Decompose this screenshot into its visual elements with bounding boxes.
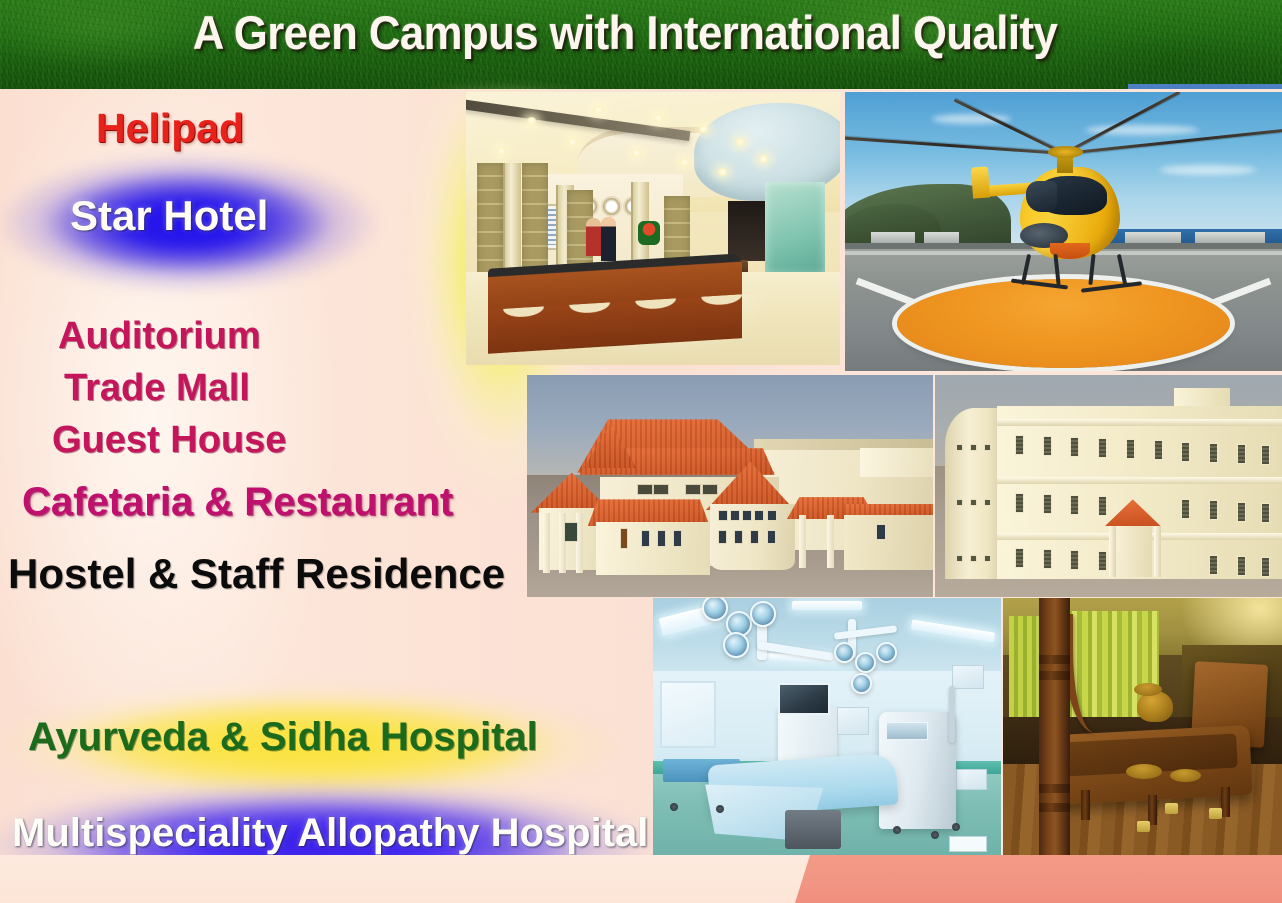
window <box>876 524 886 540</box>
facility-label-helipad: Helipad <box>96 108 244 149</box>
porch-column <box>1109 526 1116 577</box>
tower-window <box>956 555 963 562</box>
distant-building <box>924 232 959 243</box>
person-figure <box>586 218 601 256</box>
lobby-green-glass-wall <box>765 182 825 275</box>
table-leg <box>1148 795 1157 825</box>
tower-window <box>956 499 963 506</box>
distant-building <box>871 232 915 243</box>
photo-helipad <box>845 92 1282 371</box>
window <box>1181 499 1190 519</box>
machine-display <box>886 722 928 740</box>
surgical-lamp <box>834 642 855 663</box>
wall-panel <box>952 665 983 688</box>
window <box>660 681 716 748</box>
downlight-icon <box>698 125 709 133</box>
table-leg <box>1081 790 1090 820</box>
window <box>702 484 718 495</box>
window <box>754 510 764 521</box>
window <box>1209 500 1218 520</box>
photo-heritage-building <box>527 375 933 597</box>
distant-building <box>1125 232 1182 243</box>
tower-window <box>970 499 977 506</box>
brass-foot-cap <box>1165 803 1178 814</box>
person-figure <box>601 217 616 261</box>
window <box>1237 502 1246 522</box>
window <box>1237 556 1246 576</box>
surgical-lamp <box>723 632 749 658</box>
header-banner: A Green Campus with International Qualit… <box>0 0 1282 89</box>
bottom-left-strip <box>0 855 830 903</box>
pillar-ring-moulding <box>1039 784 1070 793</box>
caster-wheel <box>670 803 678 811</box>
window <box>767 530 776 544</box>
tower-window <box>970 555 977 562</box>
poster-canvas: A Green Campus with International Qualit… <box>0 0 1282 903</box>
wall-control-panel <box>837 707 868 735</box>
window <box>1015 493 1024 513</box>
porch-column <box>1154 526 1161 577</box>
window <box>1181 442 1190 462</box>
downlight-icon <box>679 158 690 166</box>
wall-clock-icon <box>601 196 622 217</box>
floor-band <box>997 477 1282 484</box>
caster-wheel <box>893 826 901 834</box>
helicopter-tail-fin <box>971 167 991 199</box>
window <box>637 484 653 495</box>
window <box>1043 436 1052 456</box>
window <box>1043 494 1052 514</box>
header-edge-sliver <box>1128 84 1282 89</box>
flower-vase <box>638 221 660 245</box>
tower-window <box>984 444 991 451</box>
ceiling-light-tube <box>792 601 862 610</box>
facility-label-allopathy: Multispeciality Allopathy Hospital <box>12 813 648 853</box>
helipad-scene <box>845 92 1282 371</box>
downlight-icon <box>526 117 537 125</box>
window <box>750 530 759 544</box>
floor-marker <box>949 836 987 852</box>
downlight-icon <box>758 155 769 163</box>
facility-label-ayurveda: Ayurveda & Sidha Hospital <box>28 717 538 757</box>
brass-foot-cap <box>1209 808 1222 819</box>
carved-wooden-pillar <box>1039 598 1070 857</box>
hostel-building-render <box>935 375 1282 597</box>
window <box>1043 549 1052 569</box>
wall-panel <box>956 769 987 790</box>
window <box>1070 437 1079 457</box>
floor-band <box>997 419 1282 426</box>
canopy-column <box>827 515 834 568</box>
caster-wheel <box>716 805 724 813</box>
facility-list: Helipad Star Hotel Auditorium Trade Mall… <box>0 89 530 903</box>
stair-tower <box>945 408 1004 579</box>
window <box>1237 444 1246 464</box>
window <box>1154 440 1163 460</box>
window <box>1126 439 1135 459</box>
pillar-ring-moulding <box>1039 803 1070 812</box>
window <box>1070 550 1079 570</box>
window <box>657 530 666 547</box>
facility-label-auditorium: Auditorium <box>58 317 261 355</box>
window <box>1209 443 1218 463</box>
green-curtain <box>1009 616 1040 720</box>
facility-label-hostel: Hostel & Staff Residence <box>8 553 505 595</box>
downlight-icon <box>631 149 642 157</box>
window <box>730 510 740 521</box>
facility-label-trade-mall: Trade Mall <box>64 369 250 407</box>
window <box>1098 496 1107 516</box>
tower-window <box>984 555 991 562</box>
window <box>673 530 682 547</box>
window <box>653 484 669 495</box>
photo-ayurveda-room <box>1003 598 1282 857</box>
downlight-icon <box>496 147 507 155</box>
facility-label-star-hotel: Star Hotel <box>70 195 268 237</box>
porch-column <box>543 513 550 573</box>
window <box>641 530 650 547</box>
tower-window <box>970 444 977 451</box>
window <box>1209 555 1218 575</box>
window <box>718 530 727 544</box>
helipad-circle <box>897 279 1229 368</box>
operating-theatre-scene <box>653 598 1001 857</box>
annexe-lower-wall <box>844 515 933 571</box>
window <box>1098 438 1107 458</box>
downlight-icon <box>593 106 604 114</box>
window <box>734 530 743 544</box>
brass-foot-cap <box>1137 821 1150 832</box>
photo-operation-theatre <box>653 598 1001 857</box>
lobby-scene <box>466 92 840 365</box>
downlight-icon <box>653 114 664 122</box>
tower-window <box>956 444 963 451</box>
brass-bowl <box>1170 769 1201 782</box>
window <box>718 510 728 521</box>
canopy-column <box>799 515 806 568</box>
pillar-ring-moulding <box>1039 655 1070 664</box>
window <box>1261 445 1270 465</box>
surgical-lamp <box>750 601 776 627</box>
window <box>1015 548 1024 568</box>
cockpit-window <box>1026 181 1057 212</box>
porch-entry <box>564 522 578 542</box>
window <box>1098 551 1107 571</box>
facility-item-ayurveda: Ayurveda & Sidha Hospital <box>0 699 620 789</box>
window <box>1015 435 1024 455</box>
machine-pole <box>949 686 955 743</box>
entrance-porch <box>1114 522 1152 578</box>
heritage-building-render <box>527 375 933 597</box>
door <box>620 528 628 549</box>
surgical-lamp <box>876 642 897 663</box>
facility-item-star-hotel: Star Hotel <box>40 189 330 253</box>
monitor-screen <box>778 683 830 714</box>
page-title: A Green Campus with International Qualit… <box>44 6 1207 60</box>
window <box>767 510 777 521</box>
window <box>685 484 701 495</box>
wing-wall <box>596 522 710 575</box>
cloud <box>1160 165 1256 175</box>
facility-label-guest-house: Guest House <box>52 421 286 459</box>
lobby-dark-alcove <box>728 201 765 261</box>
ayurveda-room-scene <box>1003 598 1282 857</box>
table-base <box>785 810 841 849</box>
window <box>1261 503 1270 523</box>
window <box>1070 495 1079 515</box>
window <box>1261 557 1270 577</box>
facility-label-cafetaria: Cafetaria & Restaurant <box>22 482 453 522</box>
pillar-ring-moulding <box>1039 671 1070 680</box>
brass-vessel <box>1137 691 1173 722</box>
window <box>742 510 752 521</box>
photo-hotel-lobby <box>466 92 840 365</box>
annexe-upper-block <box>860 448 933 477</box>
rotor-hub <box>1048 146 1083 157</box>
distant-building <box>1195 232 1265 243</box>
tower-window <box>984 499 991 506</box>
photo-hostel-building <box>935 375 1282 597</box>
